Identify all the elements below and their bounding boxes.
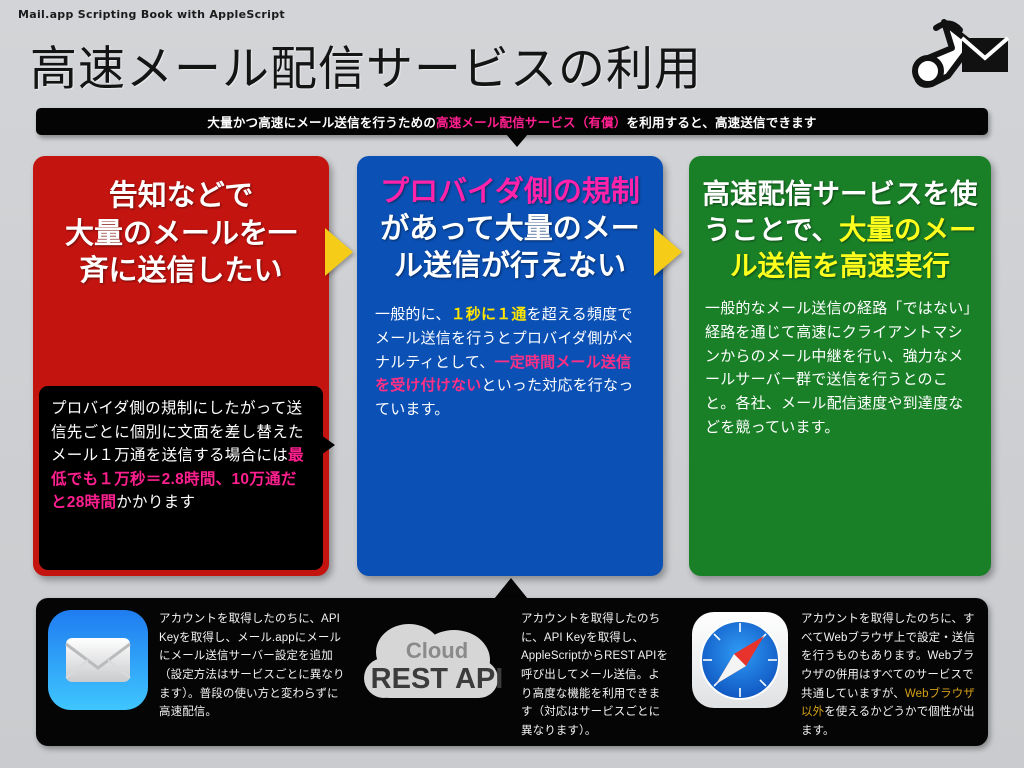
chevron-right-icon-1	[325, 228, 353, 276]
footer-cell-safari-text: アカウントを取得したのちに、すべてWebブラウザ上で設定・送信を行うものもありま…	[792, 608, 980, 740]
footer-cell-mail: アカウントを取得したのちに、API Keyを取得し、メール.appにメールにメー…	[36, 598, 356, 746]
column-solution: 高速配信サービスを使うことで、大量のメール送信を高速実行 一般的なメール送信の経…	[689, 156, 991, 576]
subtitle-highlight: 高速メール配信サービス（有償）	[436, 116, 627, 130]
cloud-rest-api-icon: Cloud REST API	[362, 608, 512, 718]
footer-cell-safari: アカウントを取得したのちに、すべてWebブラウザ上で設定・送信を行うものもありま…	[678, 598, 988, 746]
column-problem-heading-line-3: 斉に送信したい	[45, 253, 317, 291]
column-restriction: プロバイダ側の規制があって大量のメール送信が行えない 一般的に、１秒に１通を超え…	[357, 156, 663, 576]
column-restriction-heading-highlight: プロバイダ側の規制	[380, 176, 640, 208]
chevron-right-icon-2	[654, 228, 682, 276]
column-problem-note-pointer	[321, 435, 335, 455]
column-restriction-body: 一般的に、１秒に１通を超える頻度でメール送信を行うとプロバイダ側がペナルティとし…	[369, 303, 651, 421]
footer-cell-rest-api-text: アカウントを取得したのちに、API Keyを取得し、AppleScriptからR…	[512, 608, 670, 740]
footer-pointer	[494, 578, 528, 599]
subtitle-text: 大量かつ高速にメール送信を行うための高速メール配信サービス（有償）を利用すると、…	[207, 112, 816, 131]
slide-root: Mail.app Scripting Book with AppleScript…	[0, 0, 1024, 768]
column-restriction-heading-rest: があって大量のメール送信が行えない	[380, 213, 640, 282]
mail-app-icon	[46, 608, 150, 717]
footer-strip: アカウントを取得したのちに、API Keyを取得し、メール.appにメールにメー…	[36, 598, 988, 746]
subtitle-part-2: を利用すると、高速送信できます	[627, 116, 817, 130]
cloud-label-top: Cloud	[406, 638, 468, 663]
note-text-after: かかります	[116, 494, 195, 511]
column-problem-heading-line-2: 大量のメールを一	[45, 216, 317, 254]
safari-text-after: を使えるかどうかで個性が出ます。	[801, 706, 975, 737]
column-problem-heading: 告知などで 大量のメールを一 斉に送信したい	[45, 170, 317, 291]
book-tag: Mail.app Scripting Book with AppleScript	[18, 8, 285, 21]
note-text-before: プロバイダ側の規制にしたがって送信先ごとに個別に文面を差し替えたメール１万通を送…	[51, 400, 304, 464]
column-solution-heading: 高速配信サービスを使うことで、大量のメール送信を高速実行	[701, 170, 979, 283]
subtitle-ribbon-pointer	[506, 134, 528, 147]
safari-icon	[688, 608, 792, 717]
page-title: 高速メール配信サービスの利用	[30, 45, 702, 92]
footer-cell-mail-text: アカウントを取得したのちに、API Keyを取得し、メール.appにメールにメー…	[150, 608, 348, 722]
column-restriction-heading: プロバイダ側の規制があって大量のメール送信が行えない	[369, 170, 651, 285]
subtitle-ribbon: 大量かつ高速にメール送信を行うための高速メール配信サービス（有償）を利用すると、…	[36, 108, 988, 135]
scroll-envelope-icon	[906, 14, 1010, 102]
restriction-body-highlight-1: １秒に１通	[451, 306, 527, 323]
cloud-label-main: REST API	[371, 663, 504, 695]
column-problem-heading-line-1: 告知などで	[45, 178, 317, 216]
column-solution-body: 一般的なメール送信の経路「ではない」経路を通じて高速にクライアントマシンからのメ…	[701, 297, 979, 439]
subtitle-part-1: 大量かつ高速にメール送信を行うための	[207, 116, 436, 130]
footer-cell-rest-api: Cloud REST API アカウントを取得したのちに、API Keyを取得し…	[356, 598, 678, 746]
restriction-body-seg-1: 一般的に、	[375, 306, 451, 323]
column-problem-note: プロバイダ側の規制にしたがって送信先ごとに個別に文面を差し替えたメール１万通を送…	[39, 386, 323, 570]
